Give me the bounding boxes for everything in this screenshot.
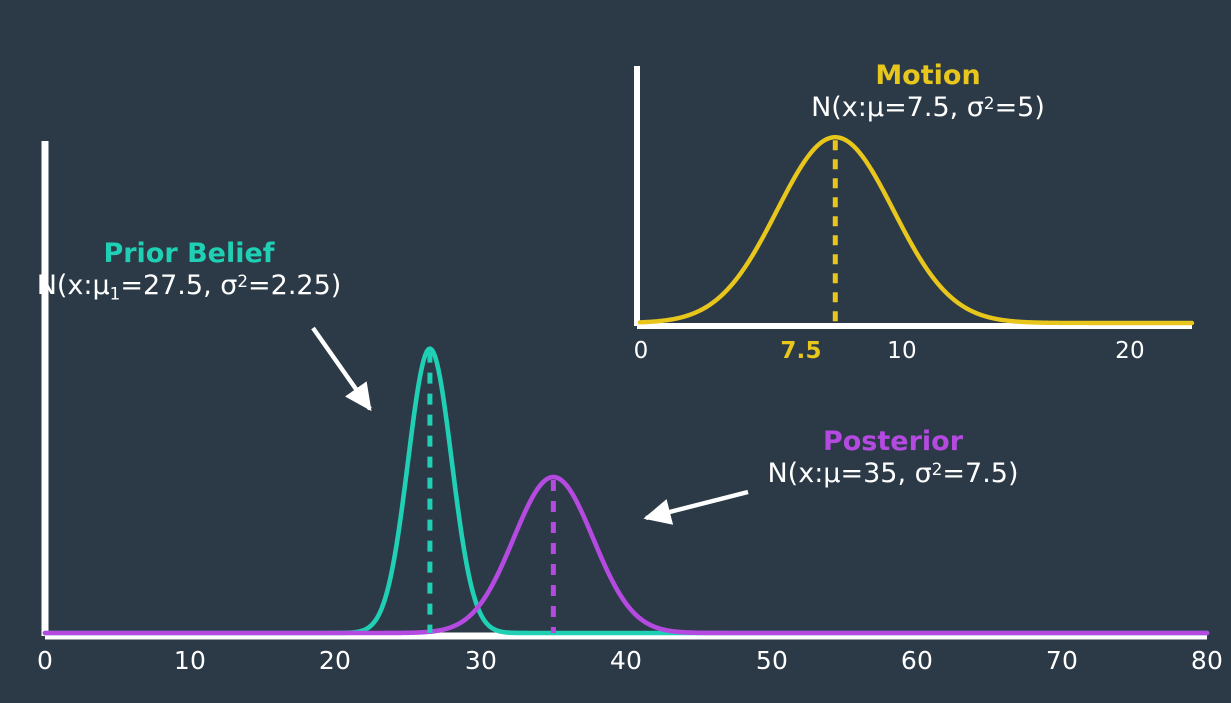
prior-formula-superscript: 2 [237, 271, 248, 291]
main-xtick-70: 70 [1046, 646, 1078, 675]
motion-formula-superscript: 2 [984, 93, 995, 113]
prior-belief-curve [45, 349, 1207, 633]
main-xtick-50: 50 [756, 646, 788, 675]
posterior-leader-arrow [646, 492, 748, 518]
prior-formula-subscript: 1 [110, 283, 121, 303]
posterior-annotation: Posterior N(x:μ=35, σ2=7.5) [723, 426, 1063, 491]
posterior-formula-superscript: 2 [932, 459, 943, 479]
posterior-formula: N(x:μ=35, σ2=7.5) [723, 458, 1063, 491]
motion-formula-suffix: =5) [995, 92, 1045, 123]
posterior-formula-prefix: N(x:μ=35, σ [767, 458, 931, 489]
prior-belief-title: Prior Belief [19, 238, 359, 270]
main-xtick-0: 0 [37, 646, 53, 675]
main-xtick-60: 60 [901, 646, 933, 675]
prior-leader-arrow [313, 328, 370, 409]
motion-formula-prefix: N(x:μ=7.5, σ [811, 92, 984, 123]
main-xtick-20: 20 [319, 646, 351, 675]
main-curves [45, 349, 1207, 633]
posterior-title: Posterior [723, 426, 1063, 458]
prior-formula-suffix: =2.25) [248, 270, 341, 301]
inset-xtick-10: 10 [887, 338, 917, 364]
inset-xtick-20: 20 [1115, 338, 1145, 364]
main-xtick-10: 10 [174, 646, 206, 675]
main-xtick-30: 30 [465, 646, 497, 675]
posterior-formula-suffix: =7.5) [942, 458, 1018, 489]
main-axes [45, 141, 1207, 636]
posterior-curve [45, 477, 1207, 633]
prior-formula-mid: =27.5, σ [120, 270, 237, 301]
figure-canvas: 0 10 20 30 40 50 60 70 80 0 7.5 10 20 Pr… [0, 0, 1231, 703]
motion-formula: N(x:μ=7.5, σ2=5) [748, 92, 1108, 125]
main-xtick-80: 80 [1191, 646, 1223, 675]
motion-curve [640, 137, 1192, 323]
inset-xtick-7p5: 7.5 [780, 338, 821, 364]
motion-title: Motion [748, 60, 1108, 92]
inset-xtick-0: 0 [634, 338, 649, 364]
motion-annotation: Motion N(x:μ=7.5, σ2=5) [748, 60, 1108, 125]
prior-formula-prefix: N(x:μ [37, 270, 110, 301]
prior-belief-annotation: Prior Belief N(x:μ1=27.5, σ2=2.25) [19, 238, 359, 304]
leader-arrows [313, 328, 748, 518]
main-xtick-40: 40 [610, 646, 642, 675]
inset-curves [640, 137, 1192, 323]
prior-belief-formula: N(x:μ1=27.5, σ2=2.25) [19, 270, 359, 304]
